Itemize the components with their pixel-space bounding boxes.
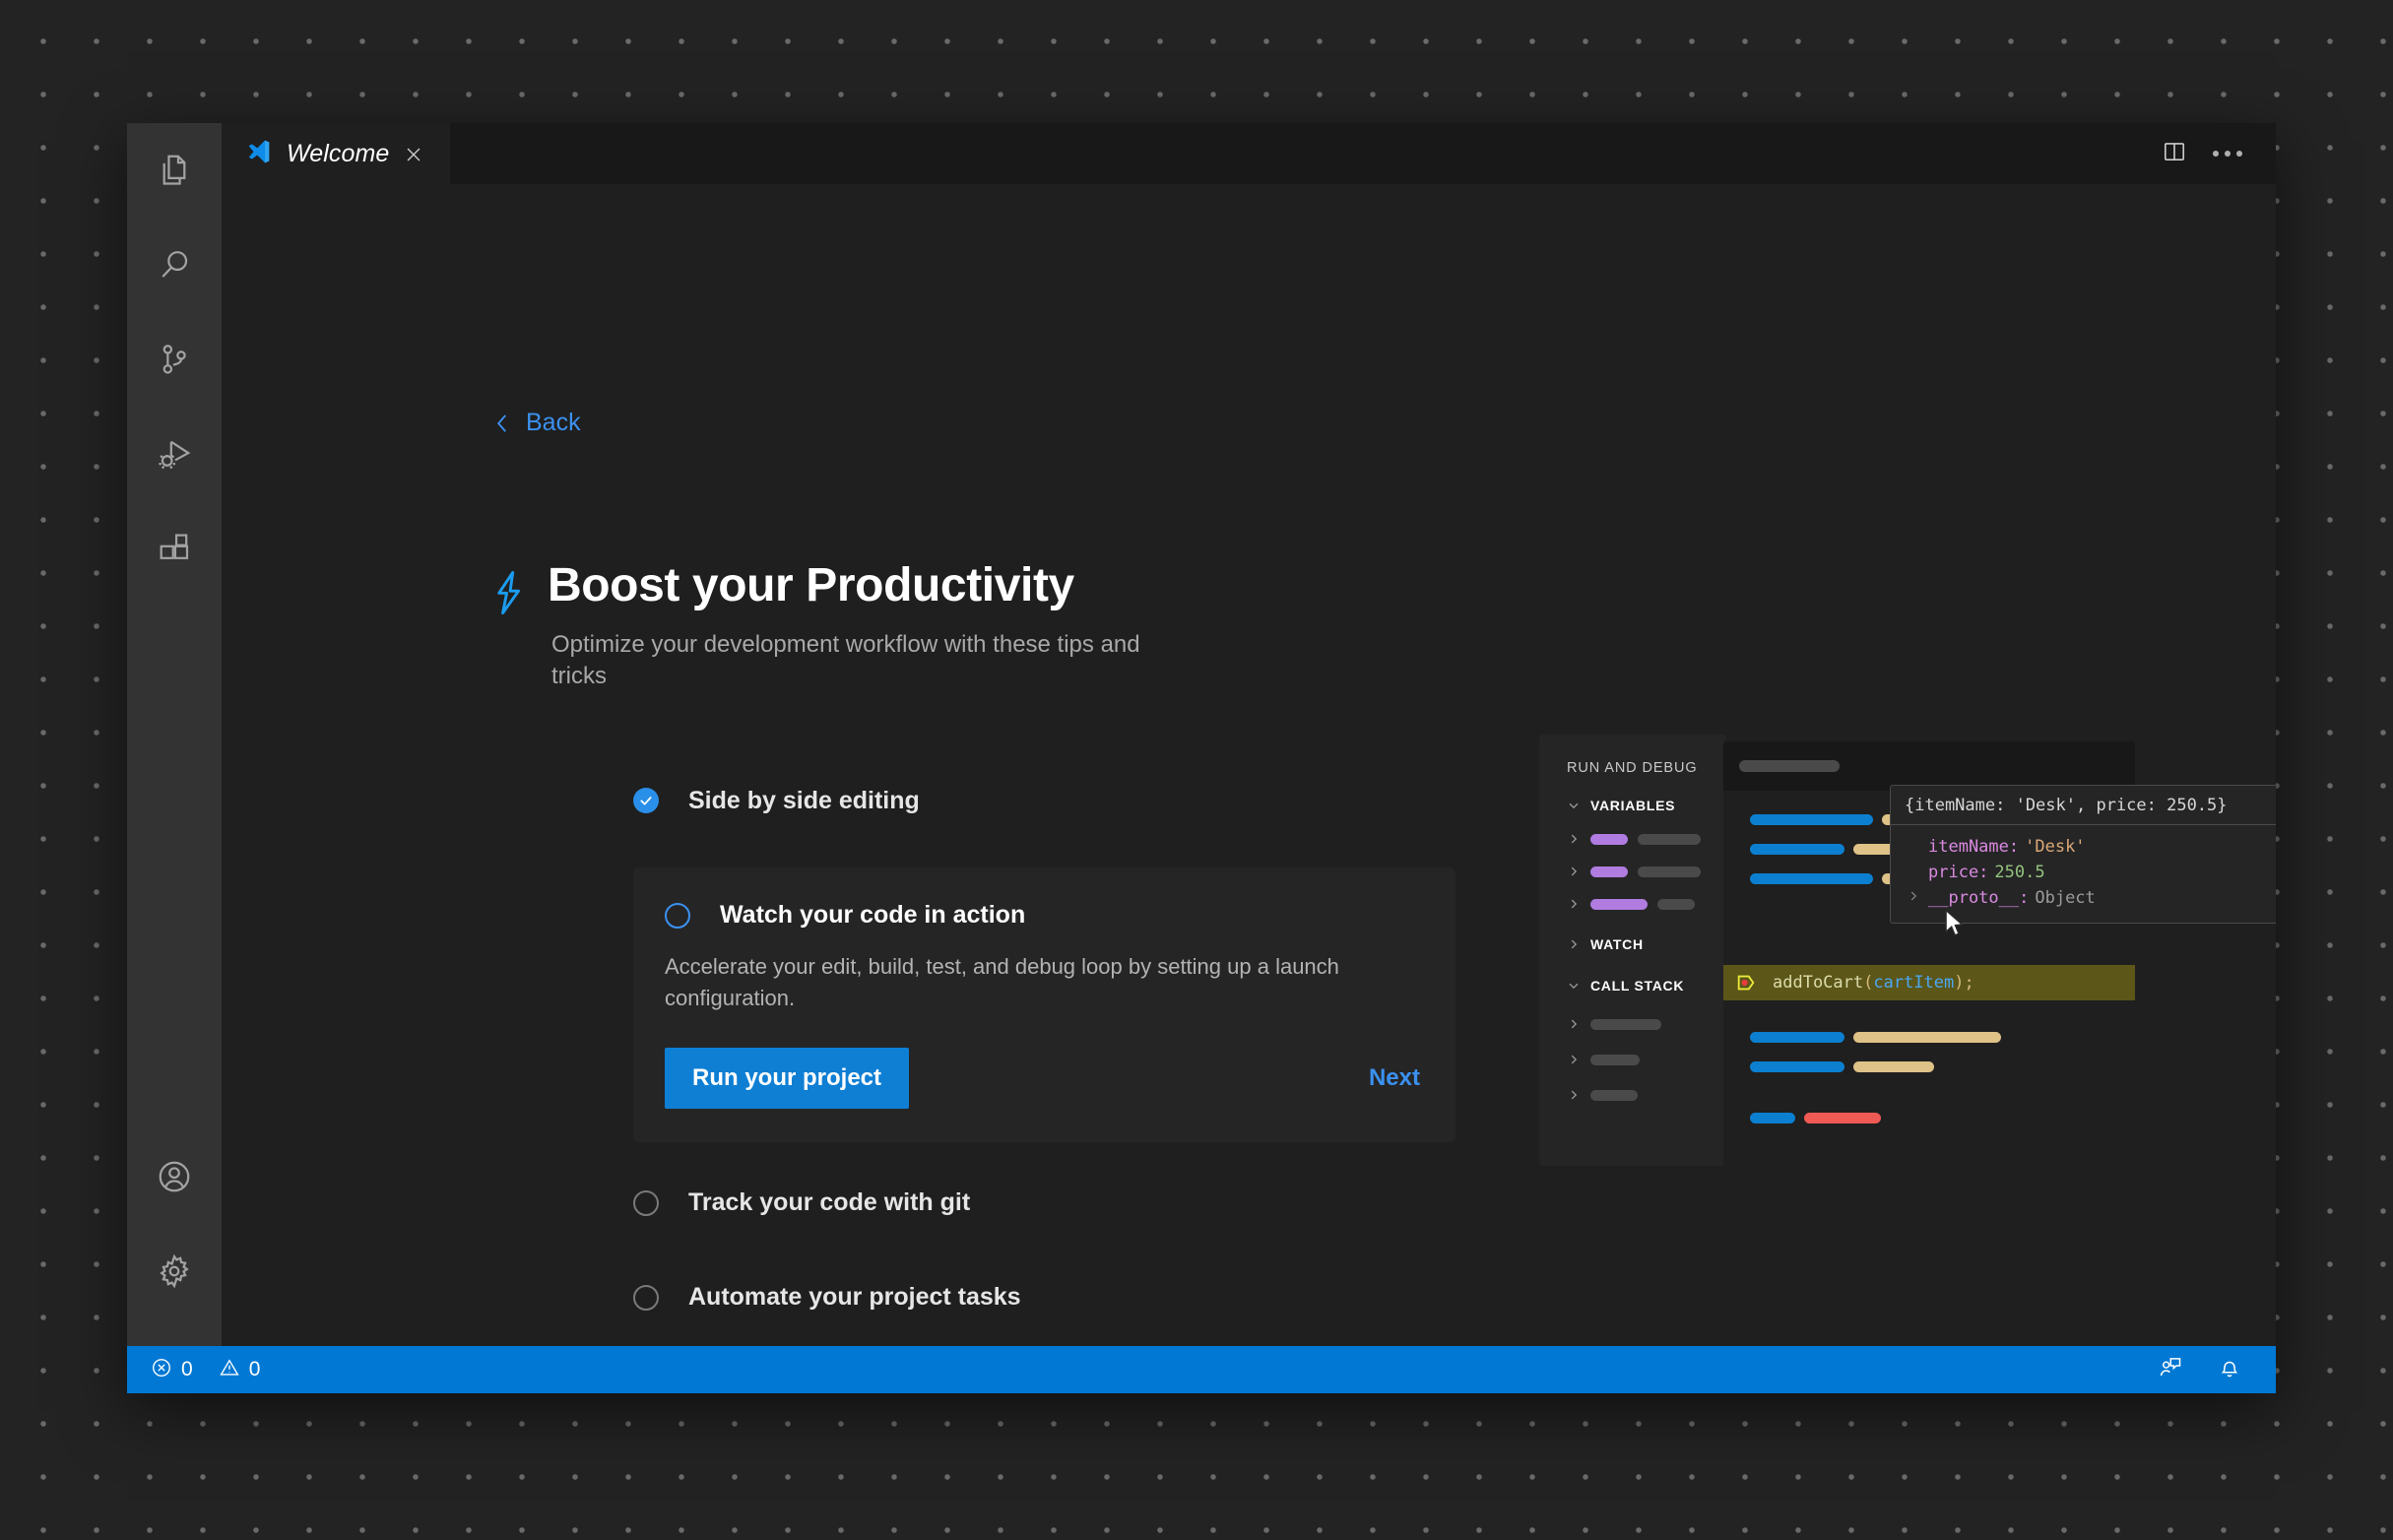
step-label: Side by side editing	[688, 787, 920, 815]
steps-list: Side by side editing Watch your code in …	[633, 753, 1455, 1346]
tab-welcome[interactable]: Welcome	[222, 123, 450, 184]
code-breakpoint-text: addToCart(cartItem);	[1773, 973, 1974, 993]
tab-label: Welcome	[287, 140, 389, 168]
sidebar-item-extensions[interactable]	[127, 501, 222, 596]
tooltip-property-row: itemName: 'Desk'	[1891, 834, 2276, 860]
files-icon	[156, 152, 193, 189]
property-value: 250.5	[1994, 863, 2044, 882]
sidebar-item-run-and-debug[interactable]	[127, 407, 222, 501]
step-item-side-by-side-editing[interactable]: Side by side editing	[633, 753, 1455, 848]
step-card-header: Watch your code in action	[665, 901, 1420, 930]
mouse-pointer-icon	[1944, 909, 1966, 943]
step-card-actions: Run your project Next	[665, 1048, 1420, 1109]
desktop-backdrop: Welcome	[0, 0, 2393, 1540]
illustration-editor-tabbar	[1723, 741, 2135, 791]
debug-callstack-row	[1567, 1013, 1726, 1035]
tooltip-property-row[interactable]: __proto__: Object	[1891, 885, 2276, 911]
code-breakpoint-line: addToCart(cartItem);	[1723, 965, 2135, 1000]
debug-variable-row	[1567, 828, 1726, 850]
warning-count: 0	[249, 1358, 261, 1381]
sidebar-item-search[interactable]	[127, 218, 222, 312]
source-control-icon	[156, 341, 193, 378]
chevron-down-icon	[1567, 799, 1581, 812]
debug-section-label: VARIABLES	[1590, 798, 1675, 813]
vscode-logo-icon	[245, 138, 273, 170]
activity-bar	[127, 123, 222, 1346]
placeholder-bar	[1638, 834, 1701, 845]
debug-hover-tooltip: {itemName: 'Desk', price: 250.5} itemNam…	[1890, 785, 2276, 924]
code-function-name: addToCart	[1773, 973, 1863, 993]
next-step-link[interactable]: Next	[1369, 1064, 1420, 1092]
placeholder-bar	[1590, 899, 1648, 910]
chevron-right-icon	[1567, 1053, 1581, 1066]
placeholder-bar	[1657, 899, 1695, 910]
step-card-title: Watch your code in action	[720, 901, 1025, 930]
step-label: Track your code with git	[688, 1188, 970, 1217]
property-value: 'Desk'	[2025, 837, 2085, 857]
debug-section-label: WATCH	[1590, 936, 1644, 952]
notifications-bell-icon[interactable]	[2217, 1355, 2242, 1385]
chevron-right-icon[interactable]	[1905, 889, 1922, 903]
vscode-window: Welcome	[127, 123, 2276, 1393]
sidebar-item-accounts[interactable]	[127, 1129, 222, 1224]
chevron-left-icon	[492, 411, 512, 436]
error-icon	[151, 1357, 172, 1383]
step-card-description: Accelerate your edit, build, test, and d…	[665, 951, 1413, 1014]
chevron-right-icon	[1567, 1017, 1581, 1031]
chevron-down-icon	[1567, 979, 1581, 993]
debug-variable-row	[1567, 893, 1726, 915]
placeholder-bar	[1638, 866, 1701, 877]
error-count: 0	[181, 1358, 193, 1381]
debug-section-variables: VARIABLES	[1567, 794, 1726, 817]
chevron-right-icon	[1567, 1088, 1581, 1102]
tab-bar: Welcome	[222, 123, 2276, 184]
code-close-paren: );	[1954, 973, 1973, 993]
step-card-watch-your-code-in-action[interactable]: Watch your code in action Accelerate you…	[633, 867, 1455, 1142]
chevron-right-icon	[1567, 865, 1581, 878]
placeholder-bar	[1590, 1090, 1638, 1101]
step-label: Automate your project tasks	[688, 1283, 1021, 1312]
step-item-customize-your-shortcuts[interactable]: Customize your shortcuts	[633, 1345, 1455, 1346]
welcome-page: Back Boost your Productivity Optimize yo…	[222, 184, 2276, 1346]
property-key: price:	[1928, 863, 1988, 882]
tooltip-property-row: price: 250.5	[1891, 860, 2276, 885]
code-argument: cartItem	[1873, 973, 1954, 993]
property-value: Object	[2035, 888, 2095, 908]
status-problems[interactable]: 0 0	[151, 1357, 260, 1383]
page-title: Boost your Productivity	[548, 561, 1074, 610]
feedback-icon[interactable]	[2158, 1355, 2183, 1385]
tab-bar-filler	[450, 123, 2162, 184]
split-editor-icon[interactable]	[2162, 139, 2187, 169]
editor-region: Welcome	[222, 123, 2276, 1346]
account-icon	[156, 1158, 193, 1195]
warning-icon	[219, 1357, 240, 1383]
code-open-paren: (	[1863, 973, 1873, 993]
status-bar: 0 0	[127, 1346, 2276, 1393]
placeholder-bar	[1590, 1055, 1640, 1065]
editor-actions	[2162, 123, 2276, 184]
chevron-right-icon	[1567, 897, 1581, 911]
property-key: itemName:	[1928, 837, 2019, 857]
illustration-debug-panel: RUN AND DEBUG VARIABLES	[1539, 735, 1726, 1166]
debug-section-call-stack: CALL STACK	[1567, 974, 1726, 997]
step-radio-icon	[633, 1190, 659, 1216]
debug-section-label: CALL STACK	[1590, 978, 1684, 994]
debug-callstack-row	[1567, 1084, 1726, 1106]
property-key: __proto__:	[1928, 888, 2029, 908]
page-subtitle: Optimize your development workflow with …	[551, 629, 1172, 691]
step-radio-icon	[665, 903, 690, 929]
more-actions-icon[interactable]	[2213, 151, 2242, 157]
step-radio-icon	[633, 1285, 659, 1311]
step-item-track-your-code-with-git[interactable]: Track your code with git	[633, 1156, 1455, 1251]
extensions-icon	[156, 530, 193, 567]
window-body: Welcome	[127, 123, 2276, 1346]
code-placeholder-line	[1750, 1059, 1934, 1073]
step-item-automate-your-project-tasks[interactable]: Automate your project tasks	[633, 1251, 1455, 1345]
placeholder-bar	[1590, 866, 1628, 877]
lightning-bolt-icon	[492, 570, 526, 620]
close-icon[interactable]	[403, 144, 424, 165]
run-and-debug-icon	[156, 435, 193, 473]
code-placeholder-line	[1750, 1111, 1881, 1124]
debug-callstack-row	[1567, 1049, 1726, 1070]
chevron-right-icon	[1567, 832, 1581, 846]
tooltip-header: {itemName: 'Desk', price: 250.5}	[1891, 786, 2276, 825]
step-illustration: RUN AND DEBUG VARIABLES	[1539, 714, 2276, 1226]
placeholder-tab	[1739, 760, 1840, 772]
back-label: Back	[526, 409, 581, 437]
category-header: Boost your Productivity Optimize your de…	[492, 561, 1182, 691]
chevron-right-icon	[1567, 937, 1581, 951]
debug-variable-row	[1567, 861, 1726, 882]
status-bar-left: 0 0	[151, 1357, 260, 1383]
placeholder-bar	[1590, 834, 1628, 845]
search-icon	[156, 246, 193, 284]
gear-icon	[156, 1252, 193, 1290]
back-button[interactable]: Back	[492, 409, 581, 437]
run-your-project-button[interactable]: Run your project	[665, 1048, 909, 1109]
step-check-icon	[633, 788, 659, 813]
sidebar-item-explorer[interactable]	[127, 123, 222, 218]
breakpoint-arrow-icon	[1735, 972, 1757, 994]
sidebar-item-source-control[interactable]	[127, 312, 222, 407]
sidebar-item-manage[interactable]	[127, 1224, 222, 1318]
code-placeholder-line	[1750, 1030, 2001, 1044]
debug-section-watch: WATCH	[1567, 932, 1726, 956]
placeholder-bar	[1590, 1019, 1661, 1030]
status-bar-right	[2158, 1355, 2254, 1385]
debug-panel-title: RUN AND DEBUG	[1567, 760, 1726, 776]
